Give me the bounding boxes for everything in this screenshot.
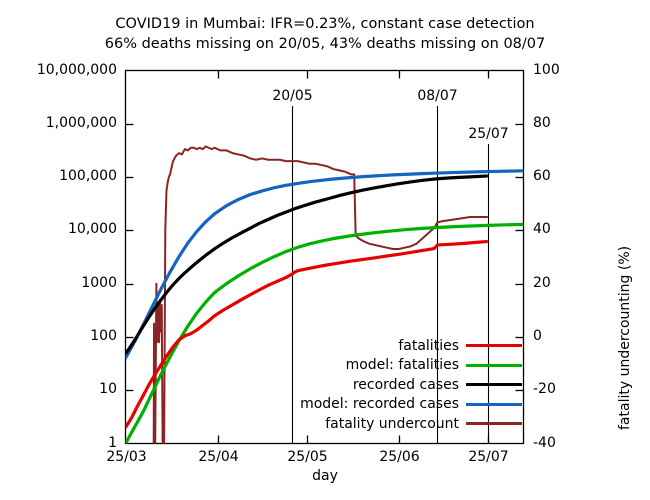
annotation-label: 08/07 (393, 88, 483, 104)
x-tick-label: 25/03 (82, 449, 172, 465)
y-tick-label: 1,000,000 (0, 115, 117, 131)
y2-axis-title: fatality undercounting (%) (617, 246, 633, 430)
x-tick-label: 25/07 (444, 449, 534, 465)
y-tick-label: 1000 (0, 275, 117, 291)
y-tick-label: 100 (0, 328, 117, 344)
legend-swatch-recorded-cases (466, 383, 522, 386)
chart-legend: fatalities model: fatalities recorded ca… (300, 336, 522, 434)
annotation-label: 25/07 (444, 126, 534, 142)
annotation-label: 20/05 (248, 88, 338, 104)
y2-tick-label: 60 (533, 168, 551, 184)
legend-swatch-model-fatalities (466, 364, 522, 367)
legend-item: fatalities (300, 336, 522, 356)
legend-item: recorded cases (300, 375, 522, 395)
y-tick-label: 100,000 (0, 168, 117, 184)
x-tick-label: 25/05 (263, 449, 353, 465)
y-tick-label: 10 (0, 381, 117, 397)
legend-label: model: fatalities (346, 357, 466, 373)
legend-swatch-fatality-undercount (466, 422, 522, 425)
x-axis-title: day (0, 468, 650, 484)
y-tick-label: 10,000,000 (0, 62, 117, 78)
x-tick-label: 25/06 (355, 449, 445, 465)
legend-item: model: fatalities (300, 356, 522, 376)
legend-item: fatality undercount (300, 414, 522, 434)
legend-label: model: recorded cases (300, 396, 466, 412)
y2-tick-label: -40 (533, 435, 556, 451)
series-line-recorded-cases (126, 176, 488, 354)
y2-tick-label: 80 (533, 115, 551, 131)
y2-tick-label: 0 (533, 328, 542, 344)
y2-tick-label: 40 (533, 221, 551, 237)
chart-figure: COVID19 in Mumbai: IFR=0.23%, constant c… (0, 0, 650, 500)
legend-label: fatality undercount (325, 416, 466, 432)
legend-swatch-fatalities (466, 344, 522, 347)
y-tick-label: 10,000 (0, 221, 117, 237)
legend-swatch-model-recorded-cases (466, 403, 522, 406)
y2-tick-label: 100 (533, 62, 560, 78)
legend-label: recorded cases (353, 377, 466, 393)
y2-tick-label: -20 (533, 381, 556, 397)
legend-item: model: recorded cases (300, 395, 522, 415)
x-tick-label: 25/04 (174, 449, 264, 465)
legend-label: fatalities (398, 338, 466, 354)
y2-tick-label: 20 (533, 275, 551, 291)
